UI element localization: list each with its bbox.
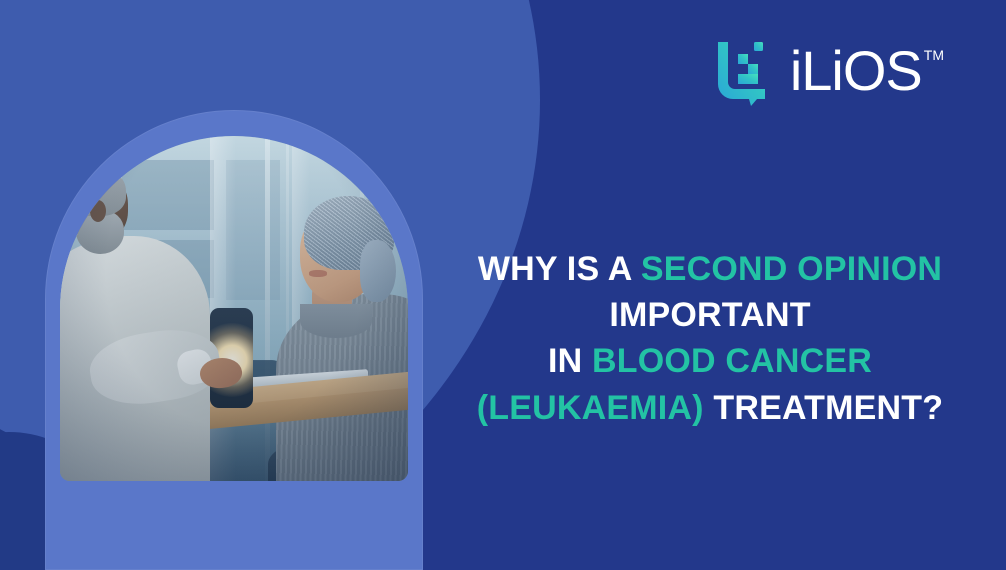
trademark-symbol: TM <box>924 47 944 63</box>
headline-segment-accent: BLOOD CANCER <box>592 342 872 380</box>
brand-wordmark-wrap: iLiOS TM <box>790 43 944 99</box>
headline-segment: TREATMENT? <box>704 389 944 427</box>
headline-line-2: IMPORTANT <box>436 292 984 338</box>
headline-line-1: WHY IS A SECOND OPINION <box>436 246 984 292</box>
brand-logo[interactable]: iLiOS TM <box>710 36 944 106</box>
headline-segment-accent: (LEUKAEMIA) <box>477 389 704 427</box>
headline-segment: IN <box>548 342 592 380</box>
photo-scene <box>60 136 408 481</box>
headline-line-3: IN BLOOD CANCER <box>436 338 984 384</box>
consultation-photo <box>60 136 408 481</box>
headline-segment: IMPORTANT <box>609 296 810 334</box>
brand-wordmark: iLiOS <box>790 43 922 99</box>
promo-banner: iLiOS TM WHY IS A SECOND OPINION IMPORTA… <box>0 0 1006 570</box>
photo-vignette <box>60 136 408 481</box>
ilios-chat-bubble-logo-icon <box>710 36 774 106</box>
headline-segment: WHY IS A <box>478 250 641 288</box>
headline: WHY IS A SECOND OPINION IMPORTANT IN BLO… <box>436 246 984 431</box>
headline-line-4: (LEUKAEMIA) TREATMENT? <box>436 385 984 431</box>
headline-segment-accent: SECOND OPINION <box>641 250 942 288</box>
